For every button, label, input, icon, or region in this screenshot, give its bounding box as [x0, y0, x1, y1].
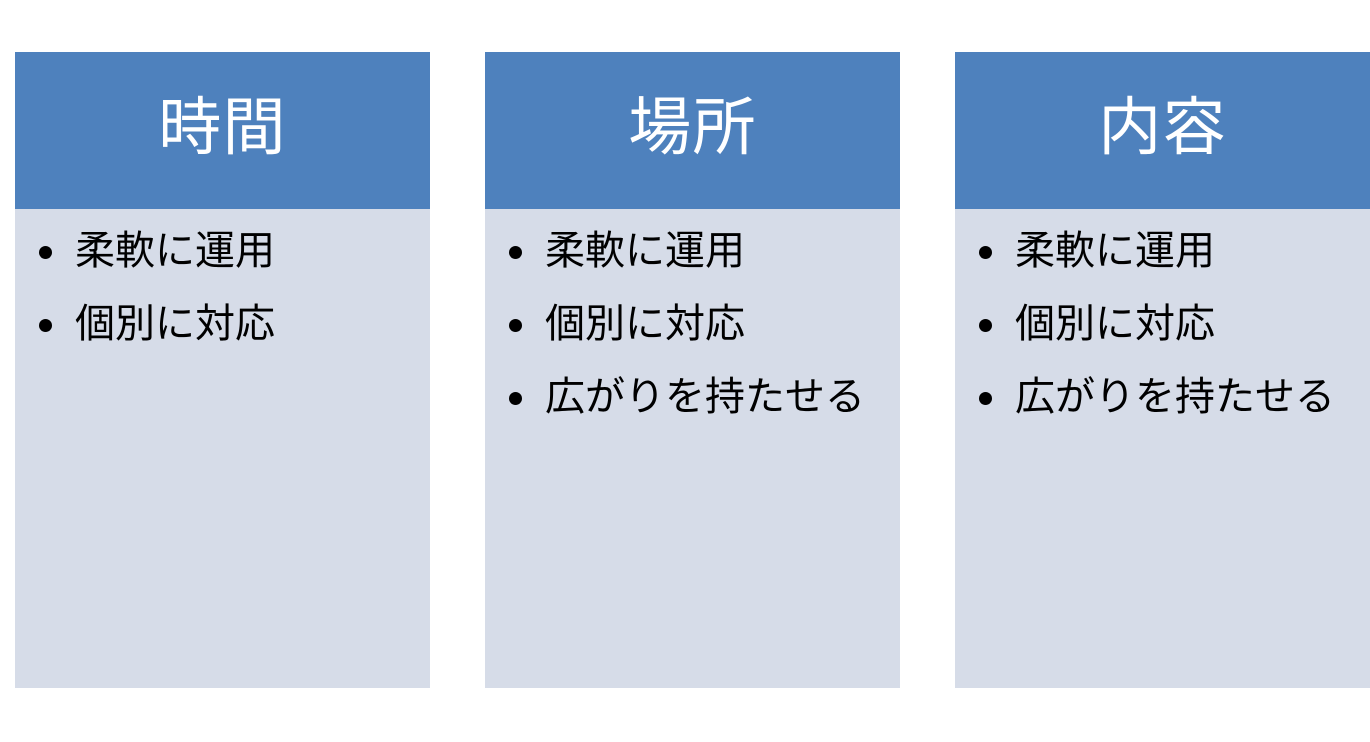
bullet-item: 柔軟に運用 — [977, 231, 1356, 272]
card-header-3: 内容 — [955, 52, 1370, 209]
card-body-1: 柔軟に運用 個別に対応 — [15, 209, 430, 688]
bullet-dot-icon — [39, 319, 52, 332]
bullet-text: 柔軟に運用 — [1015, 231, 1215, 272]
three-column-card-group: 時間 柔軟に運用 個別に対応 場所 — [15, 52, 1370, 688]
bullet-item: 広がりを持たせる — [977, 377, 1356, 418]
bullet-dot-icon — [509, 392, 522, 405]
card-header-1: 時間 — [15, 52, 430, 209]
bullet-dot-icon — [39, 246, 52, 259]
bullet-text: 個別に対応 — [75, 304, 275, 345]
bullet-text: 柔軟に運用 — [545, 231, 745, 272]
bullet-list-3: 柔軟に運用 個別に対応 広がりを持たせる — [977, 231, 1356, 418]
bullet-list-1: 柔軟に運用 個別に対応 — [37, 231, 416, 345]
bullet-list-2: 柔軟に運用 個別に対応 広がりを持たせる — [507, 231, 886, 418]
card-column-2[interactable]: 場所 柔軟に運用 個別に対応 広がりを持たせる — [485, 52, 900, 688]
card-title-1: 時間 — [158, 95, 287, 161]
bullet-item: 個別に対応 — [507, 304, 886, 345]
bullet-text: 個別に対応 — [545, 304, 745, 345]
bullet-item: 柔軟に運用 — [37, 231, 416, 272]
bullet-dot-icon — [979, 246, 992, 259]
bullet-text: 柔軟に運用 — [75, 231, 275, 272]
bullet-dot-icon — [979, 392, 992, 405]
card-body-2: 柔軟に運用 個別に対応 広がりを持たせる — [485, 209, 900, 688]
card-title-3: 内容 — [1098, 95, 1227, 161]
bullet-text: 広がりを持たせる — [545, 377, 865, 418]
slide-canvas: 時間 柔軟に運用 個別に対応 場所 — [0, 0, 1370, 742]
bullet-item: 柔軟に運用 — [507, 231, 886, 272]
bullet-dot-icon — [979, 319, 992, 332]
card-body-3: 柔軟に運用 個別に対応 広がりを持たせる — [955, 209, 1370, 688]
card-column-1[interactable]: 時間 柔軟に運用 個別に対応 — [15, 52, 430, 688]
card-title-2: 場所 — [628, 95, 757, 161]
bullet-item: 個別に対応 — [37, 304, 416, 345]
bullet-text: 広がりを持たせる — [1015, 377, 1335, 418]
bullet-text: 個別に対応 — [1015, 304, 1215, 345]
bullet-dot-icon — [509, 246, 522, 259]
bullet-item: 個別に対応 — [977, 304, 1356, 345]
bullet-dot-icon — [509, 319, 522, 332]
card-header-2: 場所 — [485, 52, 900, 209]
bullet-item: 広がりを持たせる — [507, 377, 886, 418]
card-column-3[interactable]: 内容 柔軟に運用 個別に対応 広がりを持たせる — [955, 52, 1370, 688]
